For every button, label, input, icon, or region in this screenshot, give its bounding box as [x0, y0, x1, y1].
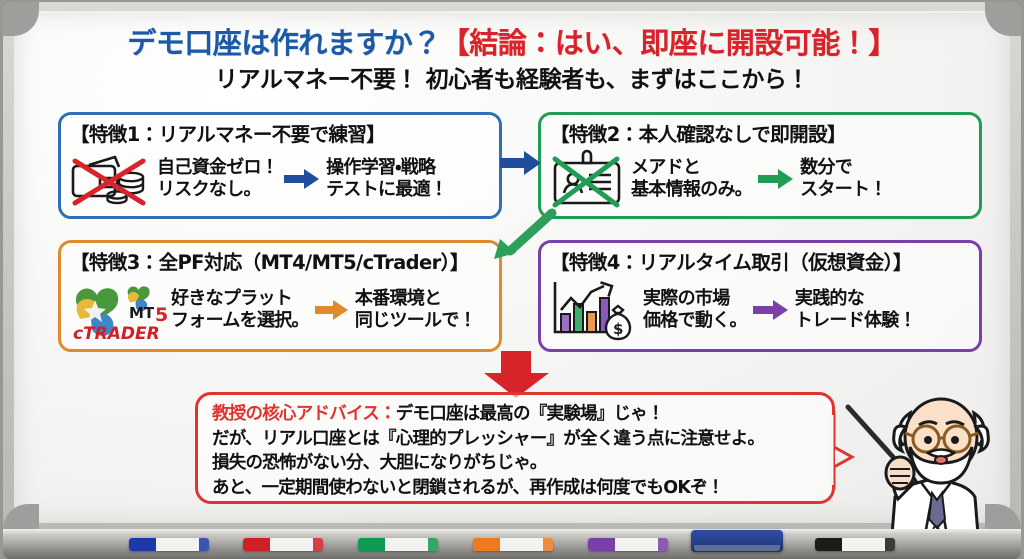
feature-1-left-text: 自己資金ゼロ！ リスクなし。: [157, 157, 278, 201]
page-title: デモ口座は作れますか？【結論：はい、即座に開設可能！】: [14, 20, 1010, 62]
advice-text: 教授の核心アドバイス：デモ口座は最高の『実験場』じゃ！ だが、リアル口座とは『心…: [212, 402, 822, 500]
professor-character: [840, 389, 1024, 537]
feature-box-3[interactable]: 【特徴3：全PF対応（MT4/MT5/cTrader）】: [58, 240, 502, 352]
feature-2-heading: 【特徴2：本人確認なしで即開設】: [550, 118, 846, 147]
feature-4-inner-arrow-icon: [751, 297, 791, 323]
id-card-crossed-icon: [547, 149, 627, 209]
feature-4-right-text: 実践的な トレード体験！: [795, 288, 916, 332]
feature-3-heading: 【特徴3：全PF対応（MT4/MT5/cTrader）】: [70, 246, 469, 275]
feature-3-inner-arrow-icon: [313, 297, 351, 323]
feature-1-inner-arrow-icon: [282, 166, 322, 192]
svg-text:5: 5: [155, 304, 167, 326]
whiteboard-eraser[interactable]: [691, 530, 783, 552]
feature-box-2[interactable]: 【特徴2：本人確認なしで即開設】: [538, 112, 982, 219]
feature-3-right-text: 本番環境と 同じツールで！: [355, 288, 476, 332]
marker-purple[interactable]: [588, 538, 668, 551]
feature-4-heading: 【特徴4：リアルタイム取引（仮想資金）】: [550, 246, 912, 275]
advice-line-1: 教授の核心アドバイス：デモ口座は最高の『実験場』じゃ！: [212, 402, 822, 427]
title-conclusion: 【結論：はい、即座に開設可能！】: [441, 26, 897, 60]
feature-2-inner-arrow-icon: [756, 166, 796, 192]
feature-3-left-text: 好きなプラット フォームを選択。: [171, 288, 309, 332]
tray-lip: [3, 529, 1021, 535]
feature-box-1[interactable]: 【特徴1：リアルマネー不要で練習】: [58, 112, 502, 219]
metatrader-ctrader-logos-icon: MT 5 cTRADER: [67, 276, 167, 344]
svg-text:MT: MT: [129, 304, 155, 322]
feature-1-right-text: 操作学習・戦略 テストに最適！: [326, 157, 447, 201]
advice-speech-bubble[interactable]: 教授の核心アドバイス：デモ口座は最高の『実験場』じゃ！ だが、リアル口座とは『心…: [195, 392, 835, 504]
feature-1-heading: 【特徴1：リアルマネー不要で練習】: [70, 118, 385, 147]
feature-2-right-text: 数分で スタート！: [800, 157, 887, 201]
bar-chart-money-bag-icon: $: [547, 278, 639, 342]
marker-tray: [3, 529, 1021, 559]
marker-black[interactable]: [815, 538, 895, 551]
svg-text:$: $: [613, 320, 623, 338]
board-content: デモ口座は作れますか？【結論：はい、即座に開設可能！】 リアルマネー不要！ 初心…: [14, 11, 1010, 523]
connector-arrow-box2-to-box3: [490, 207, 560, 263]
whiteboard-screenshot: デモ口座は作れますか？【結論：はい、即座に開設可能！】 リアルマネー不要！ 初心…: [0, 0, 1024, 559]
feature-box-4[interactable]: 【特徴4：リアルタイム取引（仮想資金）】 $: [538, 240, 982, 352]
advice-lead: 教授の核心アドバイス：: [212, 404, 396, 424]
advice-line-3: 損失の恐怖がない分、大胆になりがちじゃ。: [212, 451, 822, 476]
marker-green[interactable]: [358, 538, 438, 551]
page-subtitle: リアルマネー不要！ 初心者も経験者も、まずはここから！: [14, 60, 1010, 94]
svg-text:cTRADER: cTRADER: [73, 324, 160, 344]
feature-2-left-text: メアドと 基本情報のみ。: [631, 157, 752, 201]
professor-hand: [886, 457, 914, 489]
connector-arrow-box1-to-box2: [498, 149, 544, 179]
advice-line-2: だが、リアル口座とは『心理的プレッシャー』が全く違う点に注意せよ。: [212, 427, 822, 452]
wallet-coins-crossed-icon: [67, 149, 153, 209]
feature-4-left-text: 実際の市場 価格で動く。: [643, 288, 747, 332]
marker-blue[interactable]: [129, 538, 209, 551]
marker-orange[interactable]: [473, 538, 553, 551]
advice-line-4: あと、一定期間使わないと閉鎖されるが、再作成は何度でもOKぞ！: [212, 476, 822, 501]
title-question: デモ口座は作れますか？: [127, 26, 441, 60]
marker-red[interactable]: [243, 538, 323, 551]
